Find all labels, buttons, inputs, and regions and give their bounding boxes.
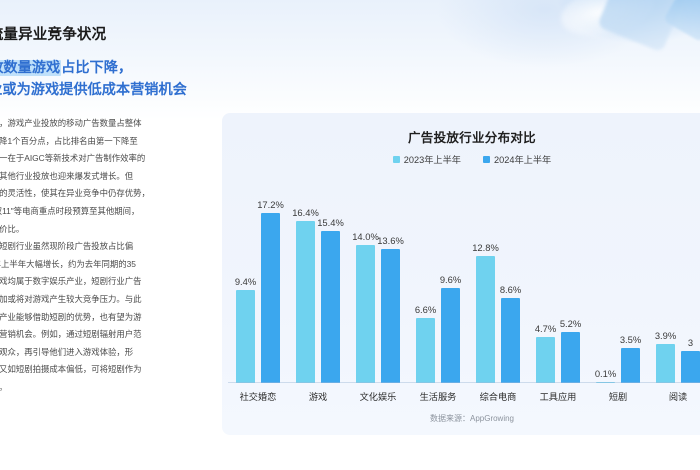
bar[interactable] (561, 332, 580, 383)
x-axis-label: 短剧 (588, 389, 648, 403)
legend-item-series-2[interactable]: 2024年上半年 (483, 152, 551, 166)
legend-swatch-icon (393, 156, 400, 163)
x-axis-label: 生活服务 (408, 389, 468, 403)
bar-value-label: 9.4% (235, 277, 256, 287)
x-axis-label: 工具应用 (528, 389, 588, 403)
bar-value-label: 5.2% (560, 319, 581, 329)
bar-value-label: 16.4% (292, 208, 319, 218)
x-axis-label: 社交婚恋 (228, 389, 288, 403)
legend-label: 2023年上半年 (404, 152, 461, 166)
headline-line-1: 段放数量游戏占比下降， (0, 57, 210, 79)
body-line: 2024年上半年大幅增长，约为去年同期的35 (0, 256, 210, 274)
bar-column: 14.0% (356, 175, 375, 383)
body-line: 剧与游戏均属于数字娱乐产业，短剧行业广告 (0, 273, 210, 291)
bar[interactable] (381, 249, 400, 383)
bar-column: 3 (681, 175, 700, 383)
bar-column: 16.4% (296, 175, 315, 383)
bar[interactable] (656, 344, 675, 383)
bar-group: 12.8%8.6% (468, 175, 528, 383)
body-line: ，游戏产业能够借助短剧的优势，也有望为游 (0, 309, 210, 327)
headline-highlight: 放数量游戏 (0, 60, 61, 76)
chart-plot-area: 9.4%17.2%16.4%15.4%14.0%13.6%6.6%9.6%12.… (228, 175, 700, 383)
chart-title: 广告投放行业分布对比 (222, 127, 700, 146)
bar-value-label: 17.2% (257, 200, 284, 210)
chart-source-note: 数据来源：AppGrowing (222, 413, 700, 424)
chart-legend: 2023年上半年 2024年上半年 (222, 152, 700, 166)
page-title: 告流量异业竞争状况 (0, 26, 210, 45)
body-line: 点吸引观众，再引导他们进入游戏体验，形 (0, 344, 210, 362)
article-headline: 段放数量游戏占比下降， 行业或为游戏提供低成本营销机会 (0, 57, 210, 101)
bar-column: 6.6% (416, 175, 435, 383)
bar-column: 3.5% (621, 175, 640, 383)
bar-value-label: 12.8% (472, 243, 499, 253)
bar-column: 9.6% (441, 175, 460, 383)
article-column: 告流量异业竞争状况 段放数量游戏占比下降， 行业或为游戏提供低成本营销机会 上半… (0, 26, 210, 397)
x-axis-label: 阅读 (648, 389, 700, 403)
bar-column: 9.4% (236, 175, 255, 383)
bar-value-label: 14.0% (352, 232, 379, 242)
bar-column: 15.4% (321, 175, 340, 383)
bar-group: 3.9%3 (648, 175, 700, 383)
bar-group: 0.1%3.5% (588, 175, 648, 383)
bar-value-label: 6.6% (415, 305, 436, 315)
article-body: 上半年，游戏产业投放的移动广告数量占整体 同比下降1个百分点，占比排名由第一下降… (0, 115, 210, 397)
body-line: 上半年，游戏产业投放的移动广告数量占整体 (0, 115, 210, 133)
body-line: 同比下降1个百分点，占比排名由第一下降至 (0, 133, 210, 151)
report-page: 告流量异业竞争状况 段放数量游戏占比下降， 行业或为游戏提供低成本营销机会 上半… (0, 0, 700, 470)
legend-item-series-1[interactable]: 2023年上半年 (393, 152, 461, 166)
bar[interactable] (296, 221, 315, 383)
bar[interactable] (681, 351, 700, 383)
body-line: 循环；又如短剧拍摄成本偏低，可将短剧作为 (0, 361, 210, 379)
bar-value-label: 3.9% (655, 331, 676, 341)
x-axis-line (228, 382, 700, 383)
bar-group: 9.4%17.2% (228, 175, 288, 383)
bar-value-label: 9.6% (440, 275, 461, 285)
bar-value-label: 4.7% (535, 324, 556, 334)
bar-column: 4.7% (536, 175, 555, 383)
bar-groups: 9.4%17.2%16.4%15.4%14.0%13.6%6.6%9.6%12.… (228, 175, 700, 383)
bar-group: 16.4%15.4% (288, 175, 348, 383)
body-line: 转移"双11"等电商重点时段预算至其他期间， (0, 203, 210, 221)
bar[interactable] (261, 213, 280, 383)
bar-value-label: 3 (688, 338, 693, 348)
bar-column: 13.6% (381, 175, 400, 383)
bar-column: 5.2% (561, 175, 580, 383)
bar-value-label: 0.1% (595, 369, 616, 379)
bar-column: 12.8% (476, 175, 495, 383)
bar-group: 6.6%9.6% (408, 175, 468, 383)
bar-value-label: 13.6% (377, 236, 404, 246)
x-axis-label: 游戏 (288, 389, 348, 403)
body-line: ，导致其他行业投放也迎来爆发式增长。但 (0, 168, 210, 186)
body-line: 的是，短剧行业虽然现阶段广告投放占比偏 (0, 238, 210, 256)
bar-column: 8.6% (501, 175, 520, 383)
bar-column: 0.1% (596, 175, 615, 383)
legend-swatch-icon (483, 156, 490, 163)
bar[interactable] (536, 337, 555, 383)
bar-value-label: 3.5% (620, 335, 641, 345)
bar[interactable] (501, 298, 520, 383)
bar[interactable] (621, 348, 640, 383)
body-line: 的素材。 (0, 379, 210, 397)
bar-group: 14.0%13.6% (348, 175, 408, 383)
body-line: 告投放的灵活性，使其在异业竞争中仍存优势， (0, 185, 210, 203)
x-axis-label: 综合电商 (468, 389, 528, 403)
bar[interactable] (356, 245, 375, 383)
headline-line-2: 行业或为游戏提供低成本营销机会 (0, 79, 210, 101)
body-line: 原因之一在于AIGC等新技术对广告制作效率的 (0, 150, 210, 168)
bar-column: 17.2% (261, 175, 280, 383)
body-line: 低成本营销机会。例如，通过短剧辐射用户范 (0, 326, 210, 344)
bar[interactable] (441, 288, 460, 383)
bar-group: 4.7%5.2% (528, 175, 588, 383)
body-line: 营销性价比。 (0, 221, 210, 239)
bar[interactable] (476, 256, 495, 383)
bar[interactable] (236, 290, 255, 383)
bar[interactable] (416, 318, 435, 383)
chart-card: 广告投放行业分布对比 2023年上半年 2024年上半年 9.4%17.2%16… (222, 113, 700, 435)
bar[interactable] (321, 231, 340, 383)
bar-value-label: 15.4% (317, 218, 344, 228)
x-axis-labels: 社交婚恋游戏文化娱乐生活服务综合电商工具应用短剧阅读 (228, 389, 700, 403)
bar-value-label: 8.6% (500, 285, 521, 295)
x-axis-label: 文化娱乐 (348, 389, 408, 403)
headline-tail: 占比下降， (61, 60, 132, 76)
legend-label: 2024年上半年 (494, 152, 551, 166)
body-line: 量的增加或将对游戏产生较大竞争压力。与此 (0, 291, 210, 309)
bar-column: 3.9% (656, 175, 675, 383)
